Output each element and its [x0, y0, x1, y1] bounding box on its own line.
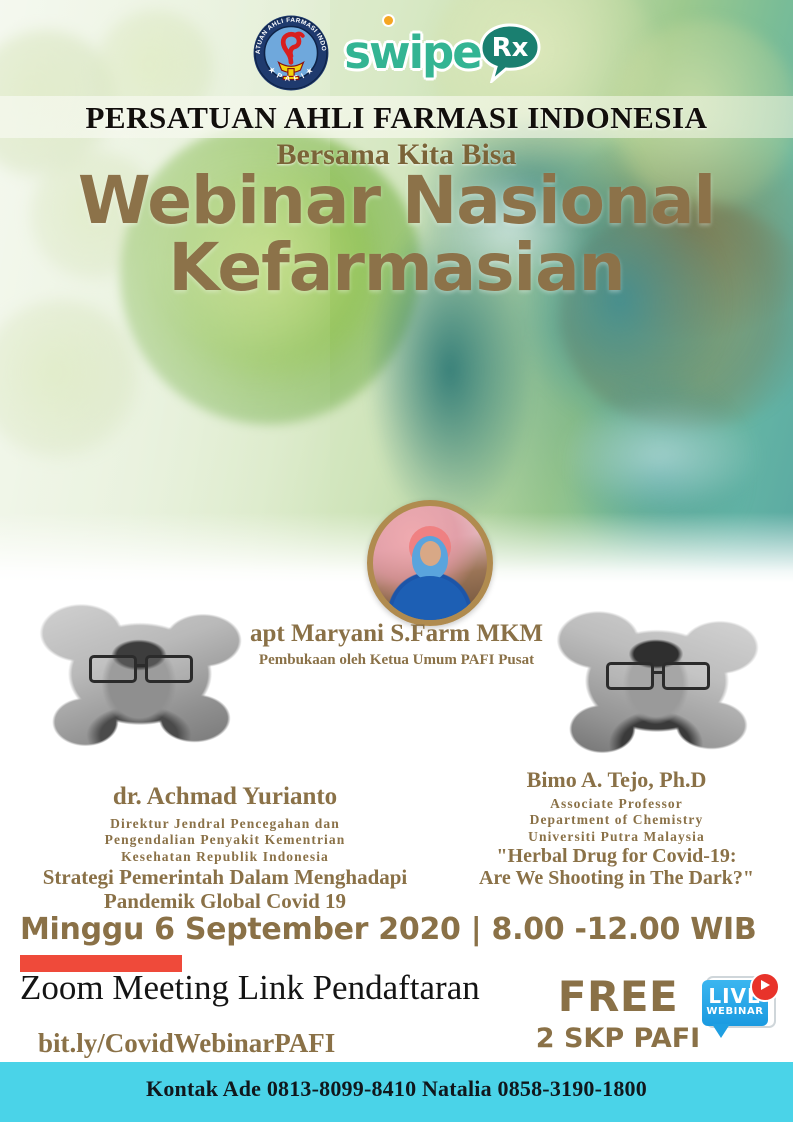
glove-highlight: [560, 400, 760, 510]
main-title: Webinar Nasional Kefarmasian: [0, 170, 793, 299]
swiperx-logo: swipe Rx: [344, 18, 541, 88]
logo-row: PERSATUAN AHLI FARMASI INDONESIA ★ P A F…: [0, 10, 793, 95]
speaker-photo-maryani: [367, 500, 493, 626]
platform-line: Zoom Meeting Link Pendaftaran: [20, 968, 480, 1008]
speaker-topic-tejo: "Herbal Drug for Covid-19: Are We Shooti…: [440, 845, 793, 890]
play-button-icon: [750, 972, 780, 1002]
speaker-name-yurianto: dr. Achmad Yurianto: [0, 783, 450, 811]
speaker-name-tejo: Bimo A. Tejo, Ph.D: [440, 767, 793, 793]
eyeglasses-icon: [606, 662, 710, 684]
speaker-affiliation-tejo: Associate Professor Department of Chemis…: [440, 796, 793, 845]
pafi-logo-icon: PERSATUAN AHLI FARMASI INDONESIA ★ P A F…: [252, 14, 330, 92]
speaker-affiliation-yurianto: Direktur Jendral Pencegahan dan Pengenda…: [0, 816, 450, 865]
photo-torso: [392, 576, 468, 624]
swiperx-dot-icon: [384, 16, 393, 25]
speaker-photo-mask: [35, 585, 245, 770]
live-webinar-badge: LIVE WEBINAR: [700, 972, 780, 1044]
contact-footer-bar: Kontak Ade 0813-8099-8410 Natalia 0858-3…: [0, 1062, 793, 1122]
badge-bubble-tail: [712, 1024, 730, 1038]
contact-text: Kontak Ade 0813-8099-8410 Natalia 0858-3…: [0, 1076, 793, 1102]
badge-webinar-text: WEBINAR: [702, 1007, 768, 1017]
speaker-topic-yurianto: Strategi Pemerintah Dalam Menghadapi Pan…: [0, 866, 450, 913]
eyeglasses-icon: [89, 655, 193, 677]
speaker-photo-yurianto: [35, 585, 245, 770]
main-title-line2: Kefarmasian: [0, 237, 793, 300]
swiperx-wordmark: swipe: [344, 30, 481, 75]
event-datetime: Minggu 6 September 2020 | 8.00 -12.00 WI…: [20, 912, 756, 947]
rx-bubble-icon: Rx: [479, 23, 541, 83]
speaker-photo-tejo: [552, 592, 762, 777]
poster-root: PERSATUAN AHLI FARMASI INDONESIA ★ P A F…: [0, 0, 793, 1122]
organization-title: PERSATUAN AHLI FARMASI INDONESIA: [0, 100, 793, 136]
registration-link[interactable]: bit.ly/CovidWebinarPAFI: [38, 1028, 335, 1059]
svg-text:Rx: Rx: [491, 33, 528, 63]
speaker-photo-mask: [552, 592, 762, 777]
main-title-line1: Webinar Nasional: [78, 162, 715, 239]
price-label: FREE: [548, 972, 688, 1021]
skp-credits-label: 2 SKP PAFI: [528, 1023, 708, 1054]
